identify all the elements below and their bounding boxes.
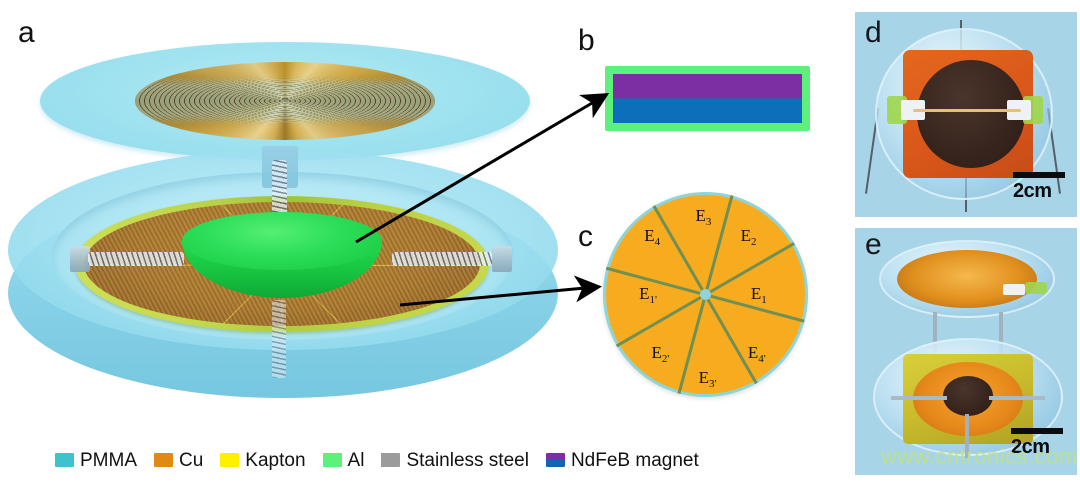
- sector-label-E3p: E3': [699, 367, 717, 389]
- figure-canvas: a b: [0, 0, 1080, 484]
- panel-d-photograph: d 2cm: [855, 12, 1077, 217]
- sector-sub-E4p: 4': [758, 353, 765, 365]
- legend-label-kapton: Kapton: [245, 451, 305, 470]
- sector-label-E1: E1: [751, 283, 767, 305]
- stainless-steel-guide: [492, 246, 512, 272]
- panel-e-label: e: [865, 230, 882, 260]
- sector-sub-E2p: 2': [662, 353, 669, 365]
- watermark-text: www.cntronics.com: [881, 444, 1077, 470]
- sector-label-E2: E2: [741, 226, 757, 248]
- sector-label-E4: E4: [644, 226, 660, 248]
- scale-label-d: 2cm: [1013, 180, 1052, 203]
- coil-underside-photo: [897, 250, 1037, 308]
- panel-b-label: b: [578, 26, 595, 56]
- legend-item-pmma: PMMA: [55, 451, 137, 470]
- legend-swatch-ndfeb-magnet: [546, 453, 565, 467]
- aluminium-disc-top: [182, 212, 382, 270]
- legend-swatch-al: [323, 453, 342, 467]
- sector-sub-E2: 2: [751, 236, 757, 248]
- sector-label-E3: E3: [695, 205, 711, 227]
- legend-label-stainless-steel: Stainless steel: [406, 451, 529, 470]
- spring-rod-right: [989, 396, 1045, 400]
- legend-swatch-pmma: [55, 453, 74, 467]
- sector-label-E4p: E4': [748, 343, 766, 365]
- sector-label-E2p: E2': [651, 343, 669, 365]
- legend-label-ndfeb-magnet: NdFeB magnet: [571, 451, 699, 470]
- contact-pad-lid: [1003, 284, 1025, 295]
- sector-sub-E1p: 1': [650, 294, 657, 306]
- sector-sub-E1: 1: [761, 294, 767, 306]
- sector-sub-E4: 4: [655, 236, 661, 248]
- gold-wire-photo: [913, 109, 1021, 112]
- legend-swatch-kapton: [220, 453, 239, 467]
- spring-front: [272, 300, 286, 378]
- panel-e-photograph: e 2cm www.cntronics.com: [855, 228, 1077, 475]
- scale-bar-e: [1011, 428, 1063, 434]
- panel-b-magnet-cross-section: [605, 66, 810, 131]
- stainless-steel-guide: [70, 246, 90, 272]
- spring-rod-left: [891, 396, 947, 400]
- legend-label-cu: Cu: [179, 451, 203, 470]
- magnet-center-photo: [943, 376, 993, 416]
- legend-item-stainless-steel: Stainless steel: [381, 451, 529, 470]
- copper-spiral-coil: [135, 62, 435, 140]
- legend-swatch-stainless-steel: [381, 453, 400, 467]
- ndfeb-magnet-layers: [613, 74, 802, 123]
- scale-bar-d: [1013, 172, 1065, 178]
- legend-item-ndfeb-magnet: NdFeB magnet: [546, 451, 699, 470]
- legend-item-kapton: Kapton: [220, 451, 305, 470]
- sector-sub-E3: 3: [706, 216, 712, 228]
- sector-label-E1p: E1': [639, 283, 657, 305]
- panel-d-label: d: [865, 18, 882, 48]
- panel-a-schematic: a: [0, 0, 600, 430]
- legend-label-pmma: PMMA: [80, 451, 137, 470]
- kapton-tab-lid: [1025, 282, 1047, 294]
- panel-c-electrode-disc: E1 E2 E3 E4 E1' E2' E3' E4': [603, 192, 808, 397]
- legend-item-al: Al: [323, 451, 365, 470]
- panel-a-label: a: [18, 18, 35, 48]
- material-legend: PMMA Cu Kapton Al Stainless steel NdFeB …: [55, 447, 699, 473]
- legend-item-cu: Cu: [154, 451, 203, 470]
- spring-left: [88, 252, 184, 266]
- sector-sub-E3p: 3': [709, 378, 716, 390]
- spring-right: [392, 252, 492, 266]
- legend-label-al: Al: [348, 451, 365, 470]
- electrode-disc-hub: [700, 289, 711, 300]
- legend-swatch-cu: [154, 453, 173, 467]
- coil-hub: [282, 97, 289, 102]
- panel-c-label: c: [578, 222, 593, 252]
